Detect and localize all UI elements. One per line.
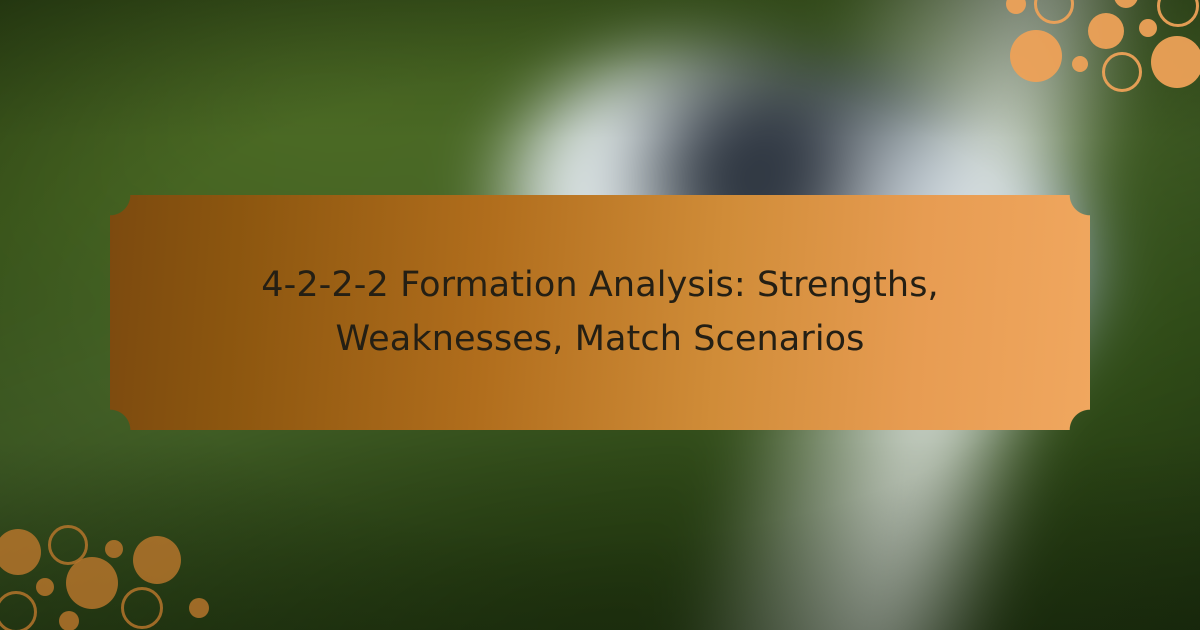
title-card: 4-2-2-2 Formation Analysis: Strengths, W… [110,195,1090,430]
page-title: 4-2-2-2 Formation Analysis: Strengths, W… [182,259,1018,365]
social-card-canvas: 4-2-2-2 Formation Analysis: Strengths, W… [0,0,1200,630]
title-card-content: 4-2-2-2 Formation Analysis: Strengths, W… [110,195,1090,430]
